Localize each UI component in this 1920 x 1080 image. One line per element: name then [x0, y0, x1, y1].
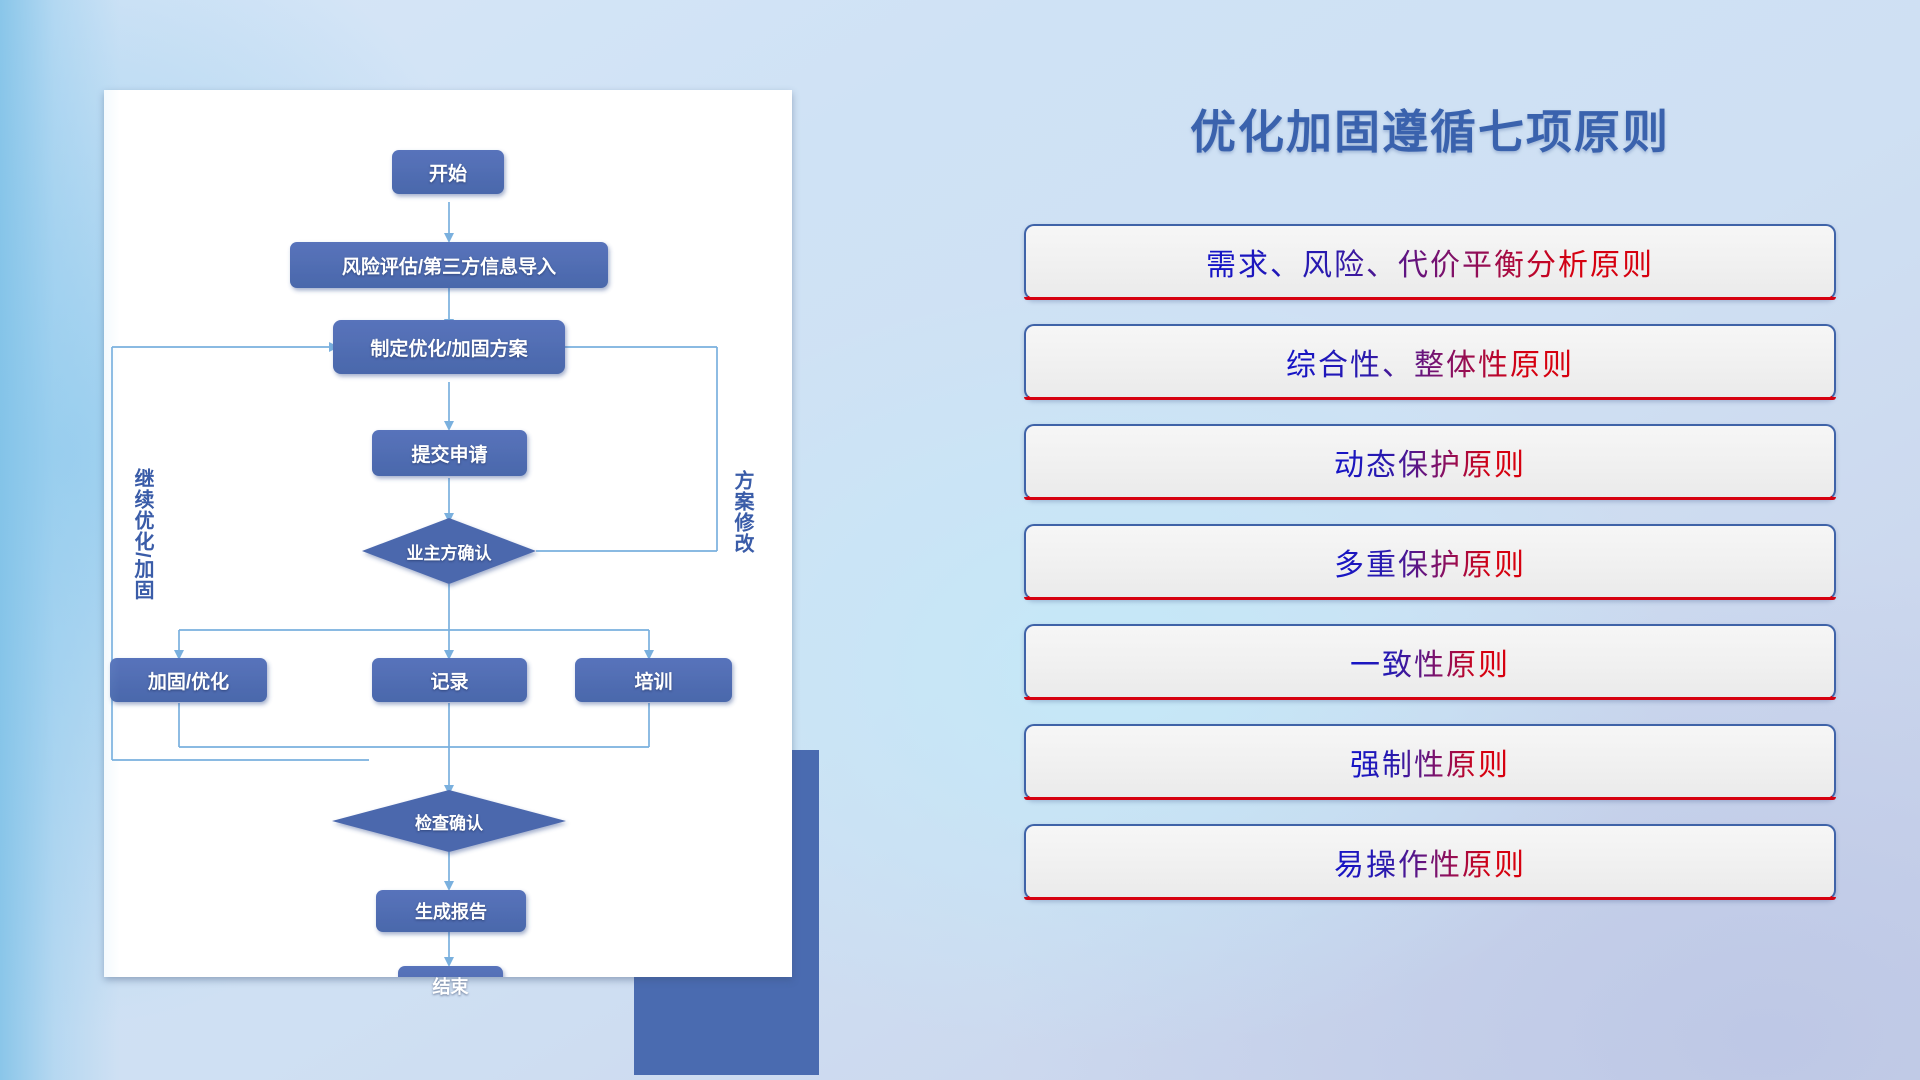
node-plan-label: 制定优化/加固方案	[370, 334, 527, 361]
principle-label-5: 一致性原则	[1350, 640, 1510, 684]
node-plan-label-wrap: 制定优化/加固方案	[333, 320, 565, 374]
principle-item-5[interactable]: 一致性原则	[1024, 624, 1836, 700]
node-record-label-wrap: 记录	[372, 658, 527, 702]
node-submit-label-wrap: 提交申请	[372, 430, 527, 476]
node-training-label-wrap: 培训	[575, 658, 732, 702]
node-owner-confirm-label: 业主方确认	[407, 539, 492, 564]
page-title: 优化加固遵循七项原则	[1020, 96, 1840, 162]
node-start-label-wrap: 开始	[392, 150, 504, 194]
principle-label-7: 易操作性原则	[1334, 840, 1526, 884]
node-risk-label: 风险评估/第三方信息导入	[342, 252, 556, 279]
slide-background: 开始 风险评估/第三方信息导入 制定优化/加固方案 提交申请 业主方确认 加固/…	[0, 0, 1920, 1080]
node-check-label: 检查确认	[415, 809, 483, 834]
node-report-label: 生成报告	[415, 898, 487, 924]
principle-item-3[interactable]: 动态保护原则	[1024, 424, 1836, 500]
principles-list: 需求、风险、代价平衡分析原则 综合性、整体性原则 动态保护原则 多重保护原则 一…	[1020, 224, 1840, 900]
node-end-label: 结束	[433, 973, 469, 999]
flowchart-panel: 开始 风险评估/第三方信息导入 制定优化/加固方案 提交申请 业主方确认 加固/…	[104, 90, 794, 980]
node-reinforce-label: 加固/优化	[148, 667, 229, 694]
node-submit-label: 提交申请	[411, 440, 487, 467]
flowchart-card: 开始 风险评估/第三方信息导入 制定优化/加固方案 提交申请 业主方确认 加固/…	[104, 90, 792, 977]
node-reinforce-label-wrap: 加固/优化	[110, 658, 267, 702]
principle-item-6[interactable]: 强制性原则	[1024, 724, 1836, 800]
principle-label-6: 强制性原则	[1350, 740, 1510, 784]
principle-item-7[interactable]: 易操作性原则	[1024, 824, 1836, 900]
principle-label-1: 需求、风险、代价平衡分析原则	[1206, 240, 1654, 284]
node-record-label: 记录	[430, 667, 468, 694]
node-report-label-wrap: 生成报告	[376, 890, 526, 932]
principle-label-3: 动态保护原则	[1334, 440, 1526, 484]
principles-panel: 优化加固遵循七项原则 需求、风险、代价平衡分析原则 综合性、整体性原则 动态保护…	[1020, 96, 1840, 900]
node-end-label-wrap: 结束	[398, 966, 503, 1006]
principle-label-2: 综合性、整体性原则	[1286, 340, 1574, 384]
node-risk-label-wrap: 风险评估/第三方信息导入	[290, 242, 608, 288]
principle-item-1[interactable]: 需求、风险、代价平衡分析原则	[1024, 224, 1836, 300]
node-training-label: 培训	[634, 667, 672, 694]
edge-label-plan-revision: 方案修改	[731, 470, 752, 554]
edge-label-continue-optimize: 继续优化/加固	[131, 468, 152, 601]
node-owner-label-wrap: 业主方确认	[362, 534, 536, 568]
principle-item-4[interactable]: 多重保护原则	[1024, 524, 1836, 600]
node-start-label: 开始	[429, 159, 467, 186]
principle-item-2[interactable]: 综合性、整体性原则	[1024, 324, 1836, 400]
principle-label-4: 多重保护原则	[1334, 540, 1526, 584]
node-check-label-wrap: 检查确认	[362, 804, 536, 838]
